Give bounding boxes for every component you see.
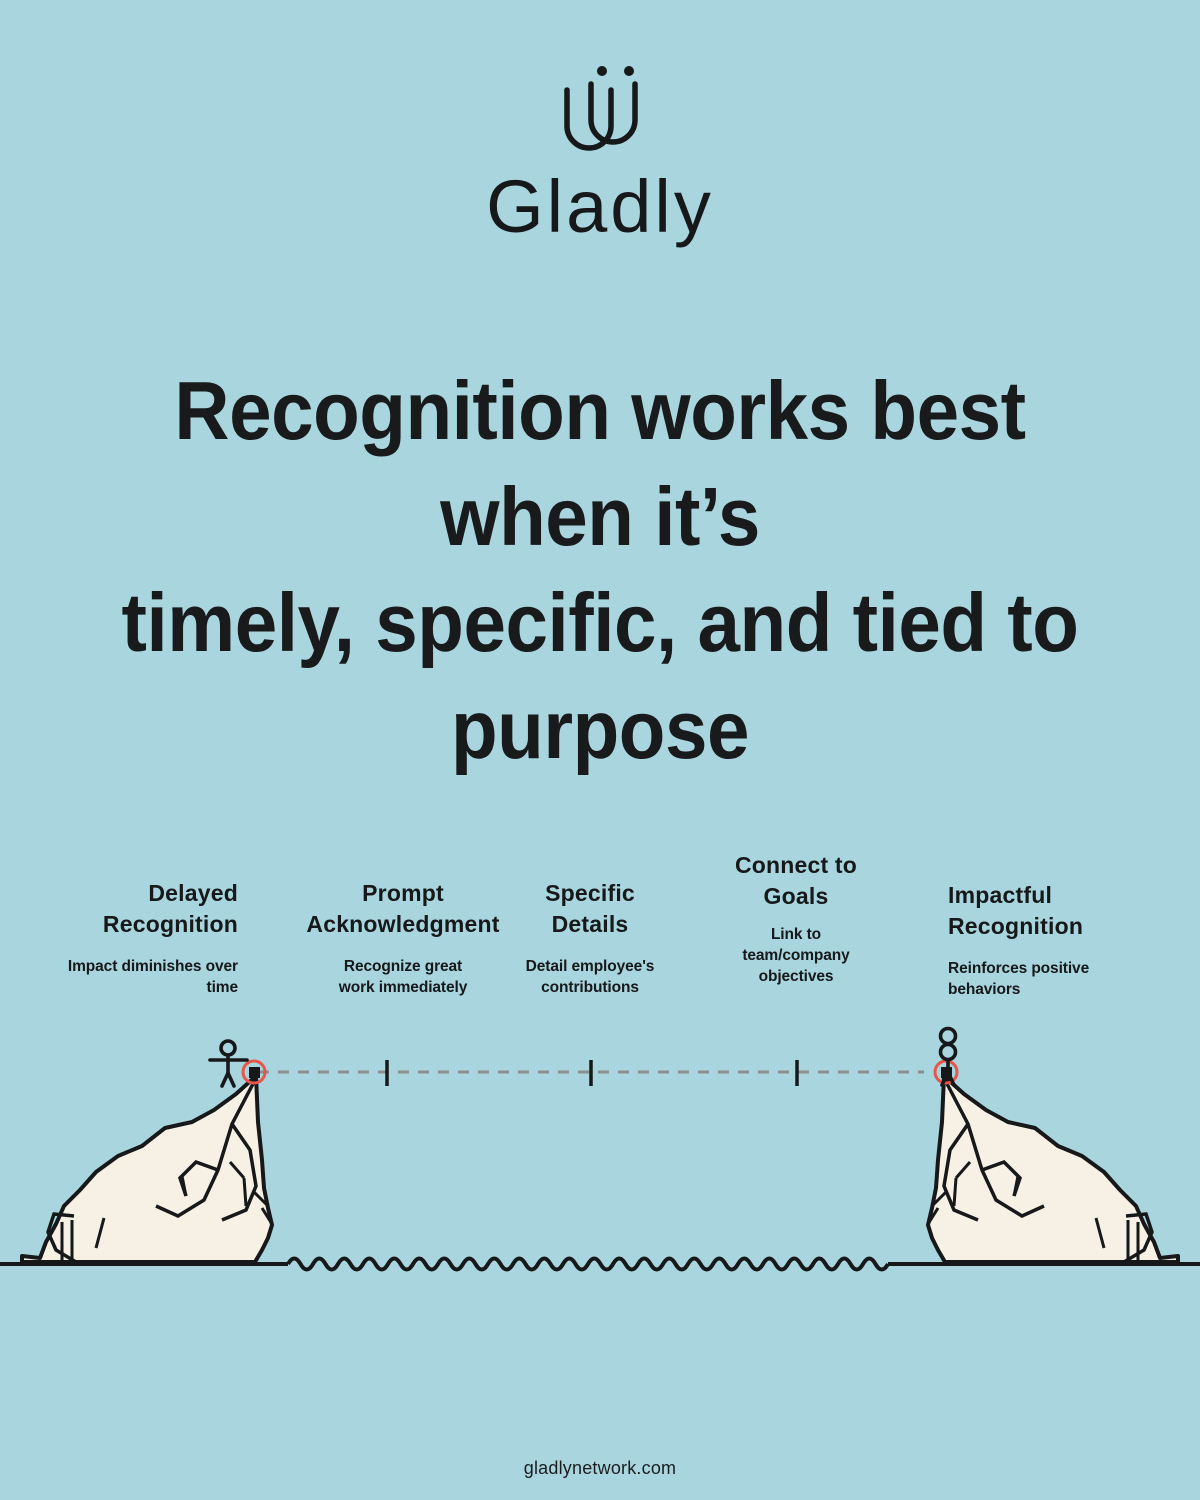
step-title: DelayedRecognition	[22, 878, 238, 939]
poster-canvas: Gladly Recognition works best when it’s …	[0, 0, 1200, 1500]
headline-line-2: timely, specific, and tied to	[68, 570, 1132, 676]
headline-line-1: Recognition works best when it’s	[68, 358, 1132, 570]
brand-name: Gladly	[0, 170, 1200, 244]
step-desc: Recognize greatwork immediately	[292, 956, 514, 998]
step-desc: Impact diminishes overtime	[22, 956, 238, 998]
iceberg-scene	[0, 1010, 1200, 1280]
step-title: ImpactfulRecognition	[948, 880, 1158, 941]
step-desc: Reinforces positivebehaviors	[948, 958, 1158, 1000]
footer-website[interactable]: gladlynetwork.com	[0, 1458, 1200, 1479]
dashed-progress-line	[258, 1060, 924, 1086]
step-connect-to-goals: Connect toGoals Link toteam/companyobjec…	[718, 850, 874, 987]
step-prompt-acknowledgment: PromptAcknowledgment Recognize greatwork…	[292, 878, 514, 998]
scene-illustration	[0, 1010, 1200, 1280]
step-title: SpecificDetails	[505, 878, 675, 939]
step-desc: Link toteam/companyobjectives	[718, 924, 874, 987]
step-title: Connect toGoals	[718, 850, 874, 911]
step-desc: Detail employee'scontributions	[505, 956, 675, 998]
stick-figure-arms-out	[210, 1041, 247, 1086]
page-title: Recognition works best when it’s timely,…	[68, 358, 1132, 783]
brand-block: Gladly	[0, 62, 1200, 244]
step-delayed-recognition: DelayedRecognition Impact diminishes ove…	[22, 878, 238, 998]
gladly-logo-icon	[545, 62, 655, 162]
iceberg-left	[22, 1076, 272, 1262]
headline-line-3: purpose	[68, 677, 1132, 783]
step-title: PromptAcknowledgment	[292, 878, 514, 939]
steps-row: DelayedRecognition Impact diminishes ove…	[0, 848, 1200, 1008]
step-impactful-recognition: ImpactfulRecognition Reinforces positive…	[948, 880, 1158, 1000]
iceberg-right	[928, 1076, 1178, 1262]
step-specific-details: SpecificDetails Detail employee'scontrib…	[505, 878, 675, 998]
